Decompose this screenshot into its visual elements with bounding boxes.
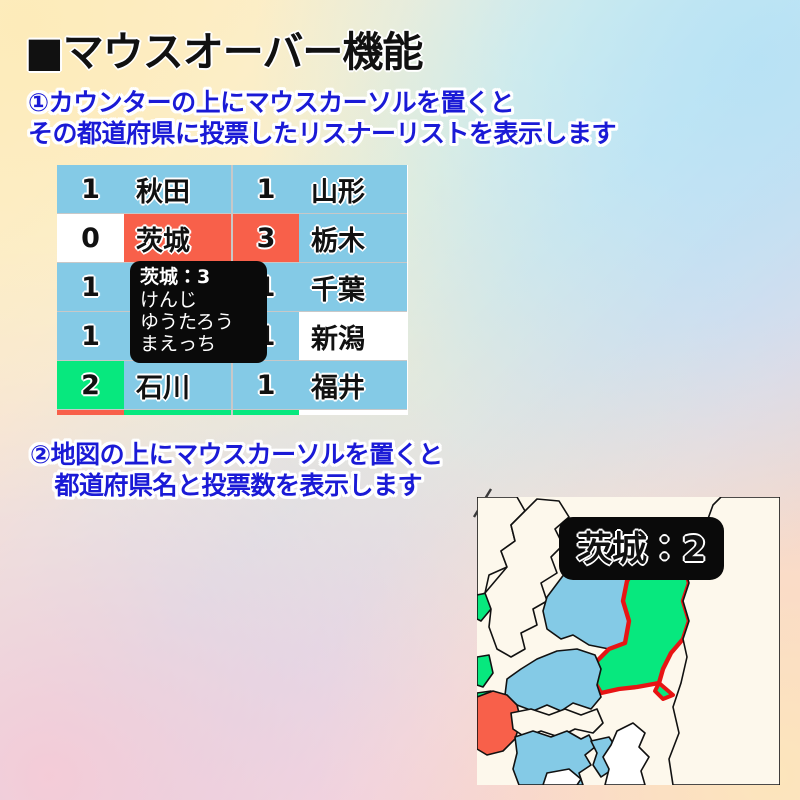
- cell-prefecture[interactable]: 新潟: [299, 312, 407, 361]
- cell-count[interactable]: 2: [57, 361, 124, 410]
- cell-prefecture[interactable]: [124, 410, 232, 415]
- cell-count[interactable]: 3: [233, 214, 299, 263]
- page-title: ■マウスオーバー機能: [25, 18, 422, 78]
- listener-list-tooltip: 茨城：3 けんじ ゆうたろう まえっち: [130, 261, 267, 363]
- instruction-text-2: ②地図の上にマウスカーソルを置くと 都道府県名と投票数を表示します: [30, 440, 443, 501]
- cell-count[interactable]: 1: [233, 361, 299, 410]
- slide-canvas: ■マウスオーバー機能 ①カウンターの上にマウスカーソルを置くと その都道府県に投…: [0, 0, 800, 800]
- cell-count[interactable]: [233, 410, 299, 415]
- cell-prefecture[interactable]: 栃木: [299, 214, 407, 263]
- cell-prefecture[interactable]: 茨城: [124, 214, 232, 263]
- cell-prefecture[interactable]: 福井: [299, 361, 407, 410]
- cell-count[interactable]: [57, 410, 124, 415]
- cell-prefecture[interactable]: 秋田: [124, 165, 232, 214]
- cell-count[interactable]: 1: [57, 165, 124, 214]
- cell-prefecture[interactable]: [299, 410, 407, 415]
- instruction-text-1: ①カウンターの上にマウスカーソルを置くと その都道府県に投票したリスナーリストを…: [28, 88, 616, 149]
- table-row-partial[interactable]: [57, 410, 408, 415]
- tooltip-listener: ゆうたろう: [140, 311, 257, 333]
- cell-count[interactable]: 1: [233, 165, 299, 214]
- table-row[interactable]: 2 石川 1 福井: [57, 361, 408, 410]
- tooltip-header: 茨城：3: [140, 266, 257, 288]
- map-region-chiba-north[interactable]: [511, 709, 603, 737]
- cell-prefecture[interactable]: 石川: [124, 361, 232, 410]
- tooltip-listener: けんじ: [140, 289, 257, 311]
- cell-prefecture[interactable]: 山形: [299, 165, 407, 214]
- table-row[interactable]: 0 茨城 3 栃木: [57, 214, 408, 263]
- map-tooltip: 茨城：2: [559, 517, 724, 580]
- cell-prefecture[interactable]: 千葉: [299, 263, 407, 312]
- cell-count[interactable]: 1: [57, 312, 124, 361]
- cell-count[interactable]: 0: [57, 214, 124, 263]
- table-row[interactable]: 1 秋田 1 山形: [57, 165, 408, 214]
- cell-count[interactable]: 1: [57, 263, 124, 312]
- tooltip-listener: まえっち: [140, 333, 257, 355]
